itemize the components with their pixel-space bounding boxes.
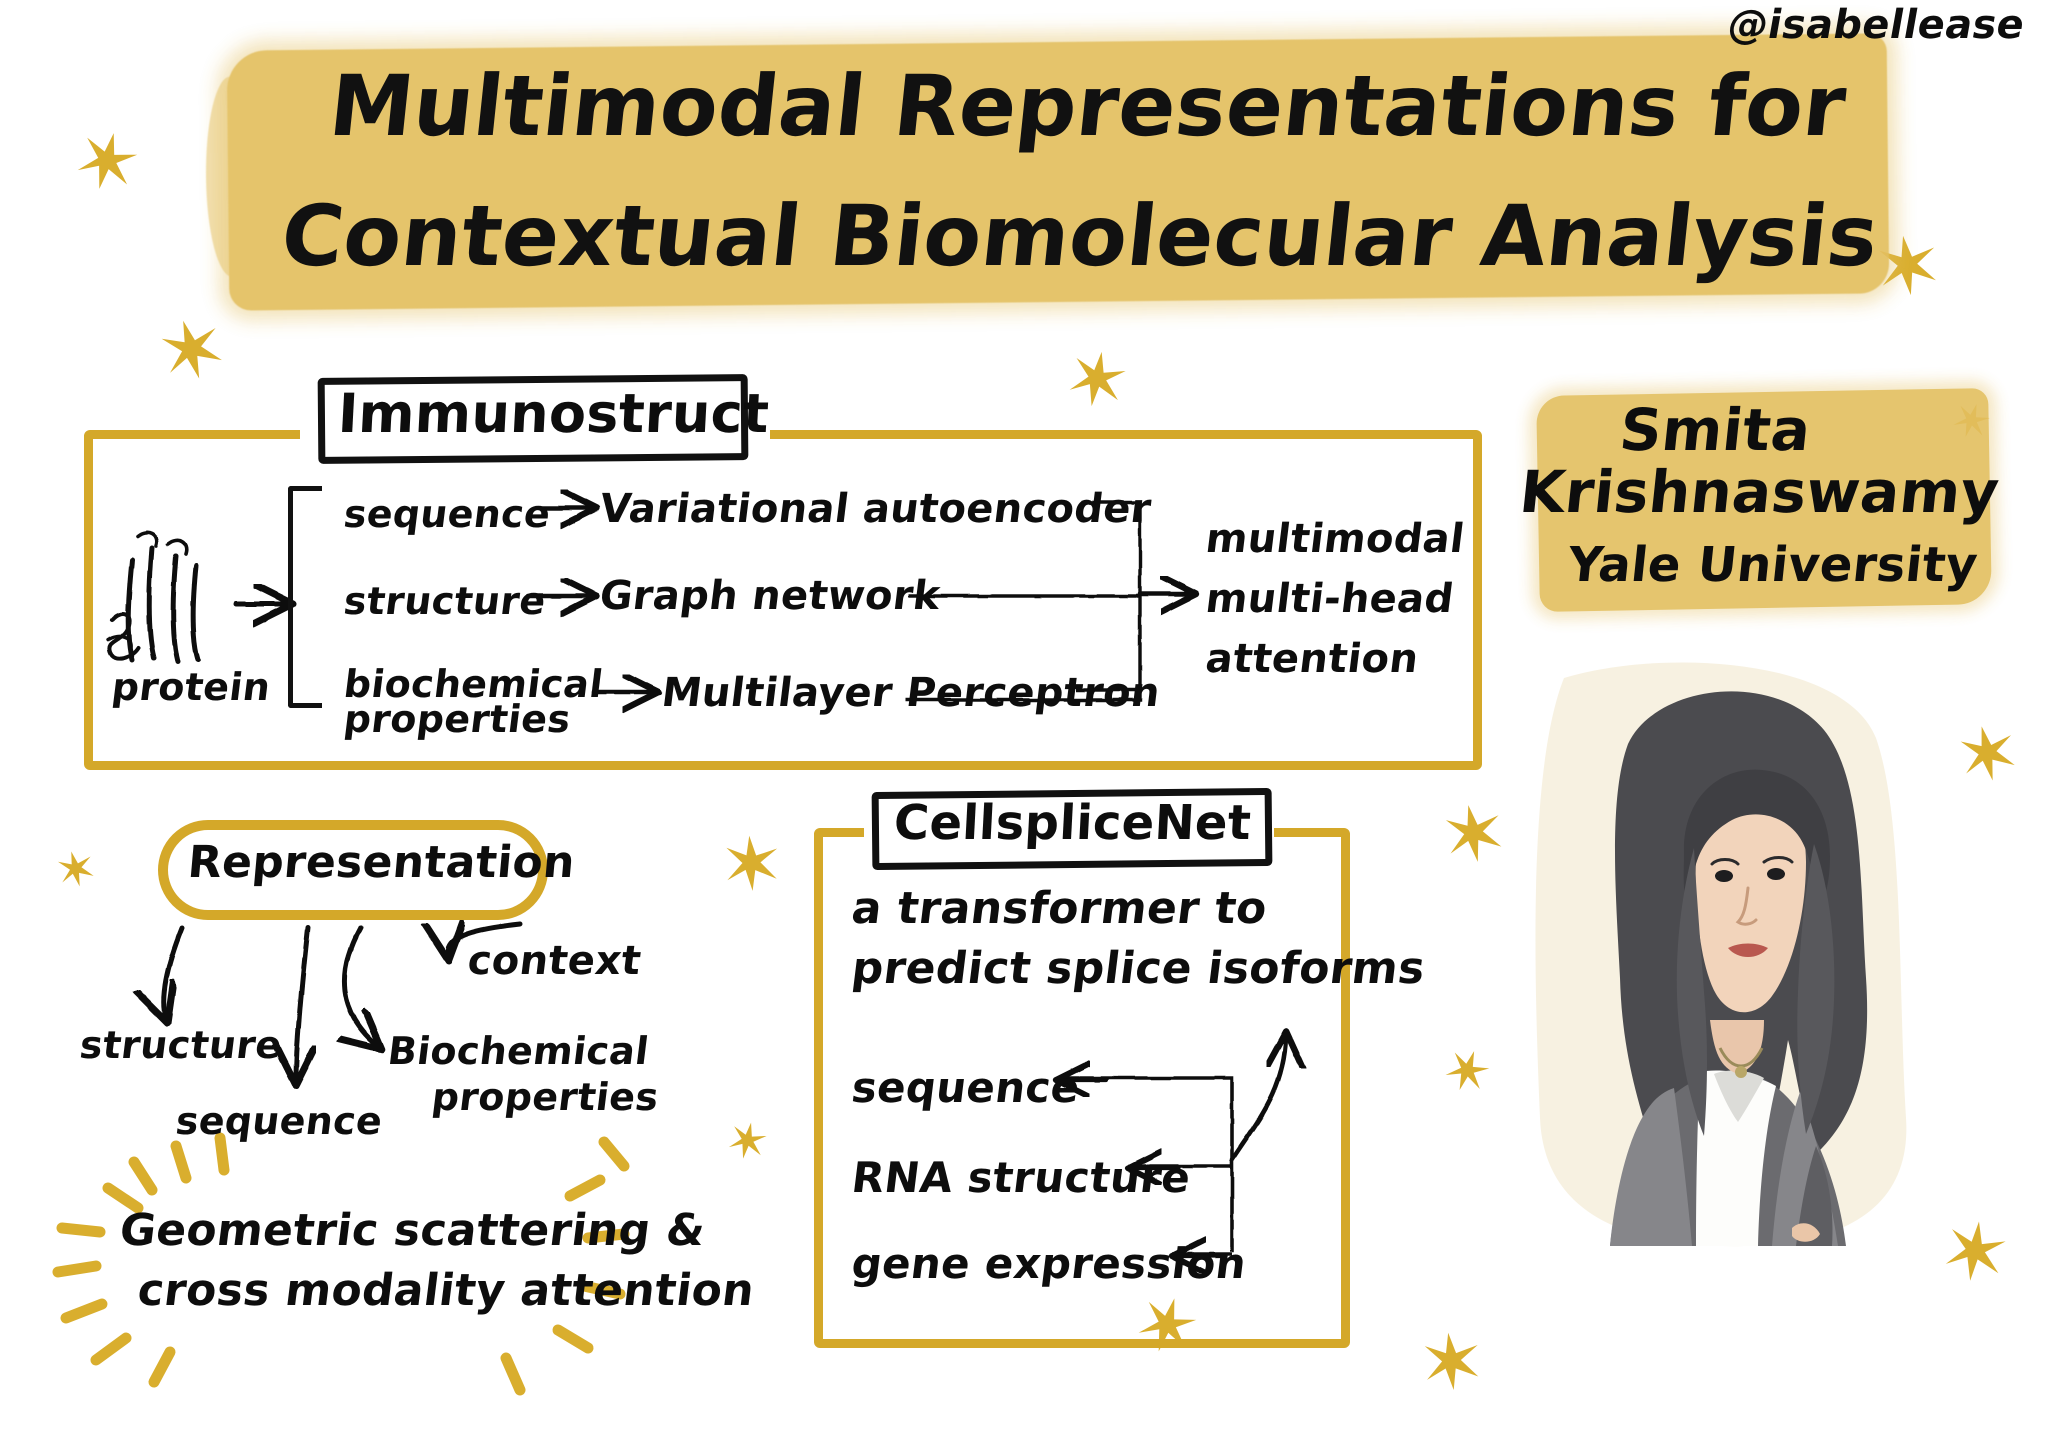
immunostruct-input-label: protein xyxy=(110,668,273,708)
model-variational-autoencoder: Variational autoencoder xyxy=(597,488,1153,530)
method-note-line-2: cross modality attention xyxy=(135,1268,757,1314)
speaker-affiliation: Yale University xyxy=(1565,540,1980,590)
modality-structure-label: structure xyxy=(342,582,548,622)
page-title-line-2: Contextual Biomolecular Analysis xyxy=(277,192,1882,280)
sketchnote-canvas: Multimodal Representations for Contextua… xyxy=(0,0,2048,1431)
immunostruct-modality-bracket xyxy=(288,486,322,708)
cellsplicenet-description-line-1: a transformer to xyxy=(849,886,1269,932)
immunostruct-output-line-3: attention xyxy=(1203,638,1421,680)
model-graph-network: Graph network xyxy=(597,575,942,617)
immunostruct-output-line-2: multi-head xyxy=(1203,578,1456,620)
speaker-portrait xyxy=(1524,648,1924,1248)
cellsplicenet-description-line-2: predict splice isoforms xyxy=(849,946,1427,992)
representation-branch-sequence: sequence xyxy=(174,1102,385,1142)
model-multilayer-perceptron: Multilayer Perceptron xyxy=(659,672,1162,714)
emphasis-rays xyxy=(58,1138,624,1390)
artist-credit-handle: @isabellease xyxy=(1724,4,2028,46)
cellsplicenet-input-sequence: sequence xyxy=(849,1066,1082,1110)
method-note-line-1: Geometric scattering & xyxy=(117,1208,708,1254)
representation-branch-context: context xyxy=(465,940,643,982)
immunostruct-label: Immunostruct xyxy=(337,386,771,443)
representation-branch-structure: structure xyxy=(78,1026,284,1066)
cellsplicenet-label: CellspliceNet xyxy=(893,798,1253,848)
representation-branch-biochemical-line1: Biochemical xyxy=(386,1032,651,1072)
representation-label: Representation xyxy=(186,840,577,886)
modality-biochemical-label-line2: properties xyxy=(342,700,573,740)
speaker-first-name: Smita xyxy=(1617,400,1814,461)
page-title-line-1: Multimodal Representations for xyxy=(325,62,1850,150)
representation-branch-biochemical-line2: properties xyxy=(430,1078,661,1118)
cellsplicenet-input-rna-structure: RNA structure xyxy=(849,1156,1193,1200)
immunostruct-output-line-1: multimodal xyxy=(1203,518,1466,560)
modality-sequence-label: sequence xyxy=(342,495,553,535)
speaker-last-name: Krishnaswamy xyxy=(1517,462,2002,523)
cellsplicenet-input-gene-expression: gene expression xyxy=(849,1242,1248,1286)
